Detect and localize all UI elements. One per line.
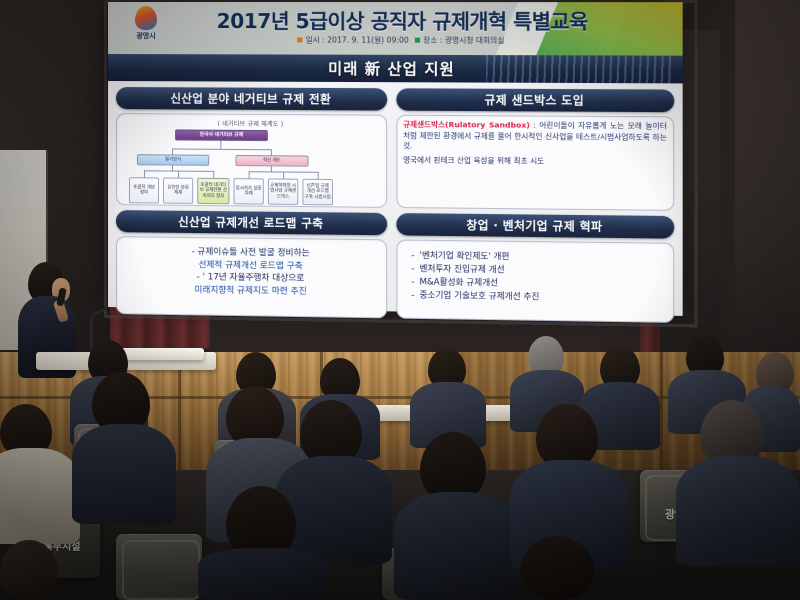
person-torso — [394, 492, 518, 600]
banner-title: 2017년 5급이상 공직자 규제개혁 특별교육 — [182, 5, 624, 35]
org-diagram: 한국식 네거티브 규제 열거방식 혁신 제도 — [123, 129, 380, 216]
card-negative-regulation: 신산업 분야 네거티브 규제 전환 ( 네거티브 규제 체계도 ) 한국식 네거… — [116, 87, 387, 208]
city-logo-mark — [135, 6, 157, 30]
person-head — [0, 540, 58, 600]
diagram-connector — [271, 166, 272, 171]
person-torso — [198, 548, 328, 600]
chair — [116, 534, 202, 600]
diagram-node-mid-left: 열거방식 — [137, 154, 209, 166]
sandbox-term: 규제샌드박스(Rulatory Sandbox) — [403, 120, 530, 130]
diagram-connector — [144, 170, 145, 177]
wood-seam — [660, 352, 663, 472]
card-regulatory-sandbox: 규제 샌드박스 도입 규제샌드박스(Rulatory Sandbox) : 어린… — [396, 88, 674, 211]
wood-seam — [178, 352, 181, 472]
person-torso — [276, 456, 392, 564]
bullet-square-green — [415, 38, 420, 43]
card-title-negative-regulation: 신산업 분야 네거티브 규제 전환 — [116, 87, 387, 111]
person-torso-light — [0, 448, 80, 544]
banner-place: 장소 : 광명시청 대회의실 — [423, 36, 504, 45]
card-title-regulatory-sandbox: 규제 샌드박스 도입 — [396, 88, 674, 112]
roadmap-line-4: 미래지향적 규제지도 마련 추진 — [123, 283, 380, 299]
diagram-connector — [318, 172, 319, 179]
banner-datetime: 일시 : 2017. 9. 11(월) 09:00 — [306, 35, 409, 44]
banner-subtitle: 일시 : 2017. 9. 11(월) 09:00장소 : 광명시청 대회의실 — [182, 34, 624, 46]
card-body-venture-deregulation: '벤처기업 확인제도' 개편 벤처투자 진입규제 개선 M&A활성화 규제개선 … — [396, 239, 674, 323]
photo-scene: 광명시 2017년 5급이상 공직자 규제개혁 특별교육 일시 : 2017. … — [0, 0, 800, 600]
diagram-connector — [213, 171, 214, 178]
diagram-connector — [220, 141, 221, 149]
event-banner: 광명시 2017년 5급이상 공직자 규제개혁 특별교육 일시 : 2017. … — [108, 2, 683, 56]
diagram-leaf-5: 규제혁파형 시범사업 규제샌드박스 — [268, 178, 298, 205]
projection-screen: 광명시 2017년 5급이상 공직자 규제개혁 특별교육 일시 : 2017. … — [108, 2, 683, 316]
diagram-connector — [249, 171, 250, 178]
diagram-node-top: 한국식 네거티브 규제 — [175, 129, 268, 141]
card-body-negative-regulation: ( 네거티브 규제 체계도 ) 한국식 네거티브 규제 열거방식 혁신 제도 — [116, 113, 387, 208]
slide-header: 미래 新 산업 지원 — [108, 54, 683, 83]
diagram-leaf-6: 신产업 규제 개선 로드맵 구축 시범사업 — [302, 179, 333, 206]
diagram-connector — [178, 171, 179, 178]
diagram-leaf-4: 임시허가 실증특례 — [233, 178, 263, 204]
city-logo: 광명시 — [118, 6, 174, 50]
diagram-node-mid-right: 혁신 제도 — [235, 155, 308, 167]
city-logo-text: 광명시 — [118, 31, 174, 41]
chair-frame — [122, 540, 200, 600]
diagram-leaf-2: 유연한 분류 체계 — [163, 177, 193, 203]
card-venture-deregulation: 창업 · 벤처기업 규제 혁파 '벤처기업 확인제도' 개편 벤처투자 진입규제… — [396, 213, 674, 323]
person-head — [520, 536, 594, 600]
diagram-leaf-3: 포괄적 네거티브 규제전환 신속처리 절차 — [197, 178, 229, 204]
card-title-regulation-roadmap: 신산업 규제개선 로드맵 구축 — [116, 210, 387, 235]
diagram-caption: ( 네거티브 규제 체계도 ) — [123, 118, 380, 129]
card-body-regulatory-sandbox: 규제샌드박스(Rulatory Sandbox) : 어린이들이 자유롭게 노는… — [396, 115, 674, 211]
diagram-leaf-1: 포괄적 개념 정의 — [129, 177, 159, 203]
sandbox-origin-note: 영국에서 핀테크 산업 육성을 위해 최초 시도 — [403, 155, 667, 168]
slide-header-title: 미래 新 산업 지원 — [108, 57, 683, 80]
diagram-connector — [283, 172, 284, 179]
card-body-regulation-roadmap: - 규제이슈들 사전 발굴 정비하는 선제적 규제개선 로드맵 구축 - ' 1… — [116, 236, 387, 318]
diagram-connector — [172, 148, 271, 150]
paper-stack — [120, 348, 204, 360]
diagram-connector — [172, 166, 173, 171]
wall-panel-far-right — [735, 0, 800, 360]
card-regulation-roadmap: 신산업 규제개선 로드맵 구축 - 규제이슈들 사전 발굴 정비하는 선제적 규… — [116, 210, 387, 318]
bullet-square-orange — [298, 37, 303, 42]
venture-item-list: '벤처기업 확인제도' 개편 벤처투자 진입규제 개선 M&A활성화 규제개선 … — [403, 247, 667, 306]
sandbox-definition: 규제샌드박스(Rulatory Sandbox) : 어린이들이 자유롭게 노는… — [403, 120, 667, 154]
list-item: 중소기업 기술보호 규제개선 추진 — [411, 288, 667, 305]
person-torso — [676, 456, 800, 566]
person-torso — [72, 424, 176, 524]
card-title-venture-deregulation: 창업 · 벤처기업 규제 혁파 — [396, 213, 674, 239]
slide-body: 신산업 분야 네거티브 규제 전환 ( 네거티브 규제 체계도 ) 한국식 네거… — [108, 81, 683, 316]
